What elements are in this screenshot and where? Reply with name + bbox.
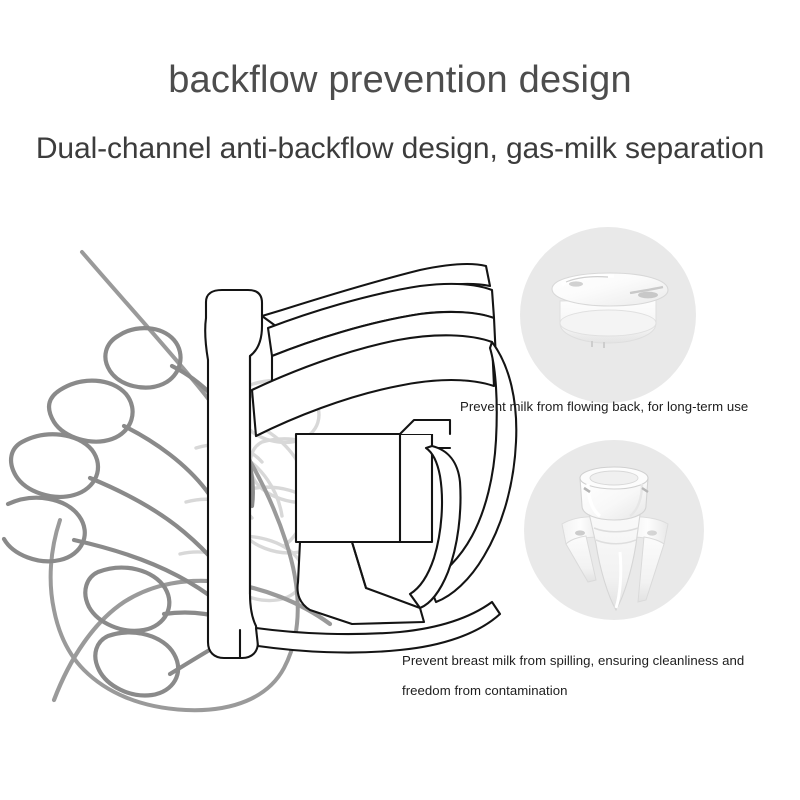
callout-caption-backflow-protector: Prevent milk from flowing back, for long… [460,392,800,422]
callout-circle-duckbill-valve [524,440,704,620]
silicone-backflow-protector-disc-image [520,227,696,403]
page-subtitle: Dual-channel anti-backflow design, gas-m… [0,132,800,165]
page-title: backflow prevention design [0,60,800,102]
duckbill-valve-image [524,440,704,620]
callout-caption-line-1: Prevent breast milk from spilling, ensur… [402,646,790,676]
infographic-page: backflow prevention design Dual-channel … [0,0,800,800]
callout-caption-duckbill-valve: Prevent breast milk from spilling, ensur… [402,646,790,706]
callout-caption-line-2: freedom from contamination [402,676,790,706]
callout-circle-backflow-protector [520,227,696,403]
